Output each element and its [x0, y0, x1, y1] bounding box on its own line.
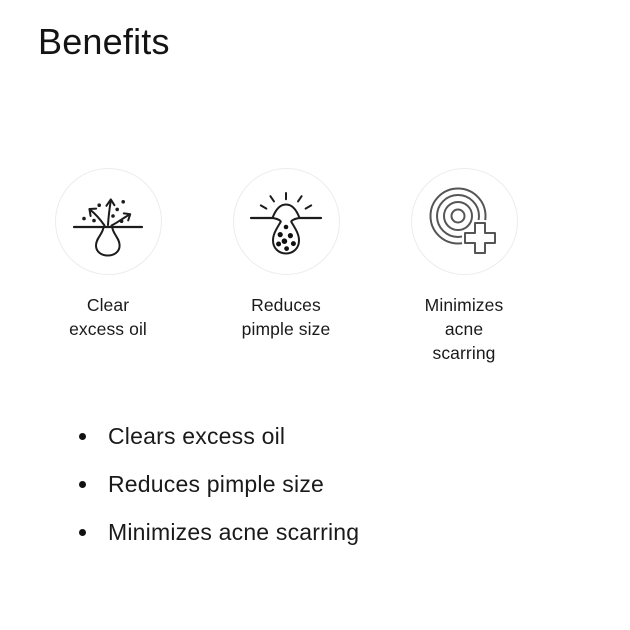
benefit-caption-2-line2: pimple size — [242, 317, 331, 341]
benefit-caption-1-line1: Clear — [69, 293, 147, 317]
page-title: Benefits — [38, 20, 170, 64]
icon-circle-2 — [233, 168, 340, 275]
benefit-caption-1: Clear excess oil — [69, 293, 147, 341]
clogged-pimple-pore-icon — [244, 180, 328, 264]
benefits-row: Clear excess oil — [22, 168, 608, 365]
list-item-label: Clears excess oil — [108, 423, 285, 449]
benefit-card-clear-excess-oil: Clear excess oil — [22, 168, 194, 341]
list-item-label: Reduces pimple size — [108, 471, 324, 497]
icon-circle-3 — [411, 168, 518, 275]
benefits-page: Benefits — [0, 0, 630, 630]
bullet-point-icon — [79, 433, 86, 440]
benefit-card-minimizes-acne-scarring: Minimizes acne scarring — [378, 168, 550, 365]
list-item: Clears excess oil — [72, 412, 592, 460]
benefit-caption-2: Reduces pimple size — [242, 293, 331, 341]
bullet-point-icon — [79, 481, 86, 488]
list-item: Minimizes acne scarring — [72, 508, 592, 556]
benefit-caption-3: Minimizes acne scarring — [425, 293, 504, 365]
benefit-caption-3-line2: acne — [425, 317, 504, 341]
benefit-caption-3-line3: scarring — [425, 341, 504, 365]
benefit-card-reduces-pimple-size: Reduces pimple size — [200, 168, 372, 341]
benefit-caption-1-line2: excess oil — [69, 317, 147, 341]
list-item-label: Minimizes acne scarring — [108, 519, 359, 545]
icon-circle-1 — [55, 168, 162, 275]
pore-releasing-oil-icon — [66, 180, 150, 264]
benefit-bullet-list: Clears excess oil Reduces pimple size Mi… — [72, 412, 592, 556]
list-item: Reduces pimple size — [72, 460, 592, 508]
acne-scar-target-plus-icon — [425, 183, 503, 261]
benefit-caption-2-line1: Reduces — [242, 293, 331, 317]
benefit-caption-3-line1: Minimizes — [425, 293, 504, 317]
bullet-point-icon — [79, 529, 86, 536]
